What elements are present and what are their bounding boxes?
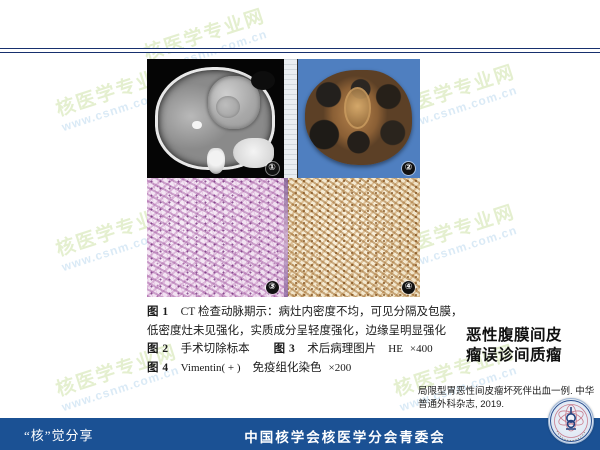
header-divider [0,48,600,53]
caption-line-fig1-b: 低密度灶未见强化，实质成分呈轻度强化，边缘呈明显强化 [147,322,437,341]
slide-title: 恶性腹膜间皮 瘤误诊间质瘤 [432,326,596,366]
caption-magnification-fig3: ×400 [410,343,433,355]
ct-gas-bubble [251,71,276,90]
figure-grid: ① ② ③ ④ [147,59,420,297]
caption-text-fig3: 术后病理图片 [307,343,376,355]
figure-ihc-vimentin: ④ [284,178,421,297]
caption-text-fig1-line2: 低密度灶未见强化，实质成分呈轻度强化，边缘呈明显强化 [147,325,446,337]
figure-marker-4: ④ [402,281,415,294]
caption-text-fig4: 免疫组化染色 [253,362,322,374]
caption-magnification-fig4: ×200 [329,362,352,374]
figure-marker-2: ② [402,162,415,175]
footer-center-text: 中国核学会核医学分会青委会 [0,426,600,446]
figure-he-histology: ③ [147,178,284,297]
figure-gross-specimen: ② [284,59,421,178]
watermark-text-cn: 核医学专业网 [140,1,268,66]
caption-line-fig4: 图 4Vimentin( + )免疫组化染色×200 [147,359,437,378]
caption-tag-fig4: 图 4 [147,362,169,374]
specimen-ruler [284,59,299,178]
caption-marker-fig4: Vimentin( + ) [181,362,241,374]
caption-line-fig1-a: 图 1CT 检查动脉期示：病灶内密度不均，可见分隔及包膜， [147,303,437,322]
citation-line-1: 局限型胃恶性间皮瘤坏死伴出血一例. 中华 [418,386,598,399]
ct-vessel-dot [192,121,202,129]
figure-caption-block: 图 1CT 检查动脉期示：病灶内密度不均，可见分隔及包膜， 低密度灶未见强化，实… [147,303,437,377]
figure-marker-3: ③ [266,281,279,294]
figure-marker-1: ① [266,162,279,175]
specimen-tumor-mass [305,70,411,165]
caption-line-fig2-fig3: 图 2手术切除标本图 3术后病理图片HE×400 [147,340,437,359]
caption-tag-fig3: 图 3 [274,343,296,355]
ct-vertebra [207,148,225,174]
slide-title-line-2: 瘤误诊间质瘤 [432,346,596,366]
ihc-nuclei-dots [284,178,421,297]
caption-stain-fig3: HE [388,343,403,355]
caption-text-fig1-line1: CT 检查动脉期示：病灶内密度不均，可见分隔及包膜， [181,306,463,318]
ihc-slide-edge [284,178,288,297]
caption-tag-fig1: 图 1 [147,306,169,318]
caption-text-fig2: 手术切除标本 [181,343,250,355]
figure-ct-arterial-phase: ① [147,59,284,178]
he-nuclei-dots [147,178,284,297]
footer-bar: “核”觉分享 中国核学会核医学分会青委会 [0,416,600,450]
slide-title-line-1: 恶性腹膜间皮 [432,326,596,346]
caption-tag-fig2: 图 2 [147,343,169,355]
slide-canvas: 核医学专业网 www.csnm.com.cn 核医学专业网 www.csnm.c… [0,0,600,450]
society-logo-icon [548,398,594,444]
